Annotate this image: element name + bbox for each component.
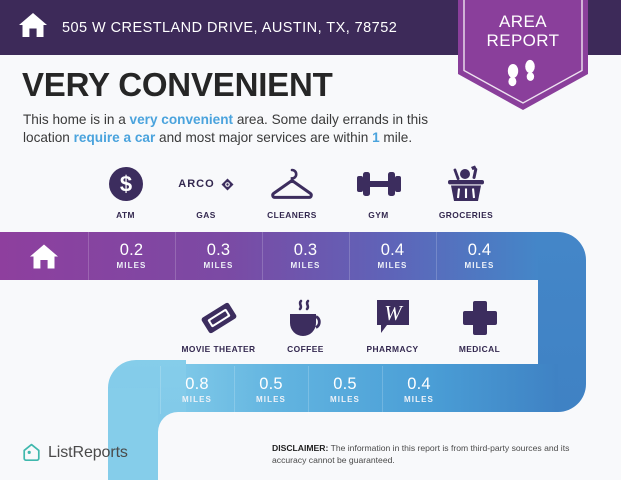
arco-brand-text: ARCO: [178, 178, 214, 190]
listreports-logo: ListReports: [22, 443, 128, 462]
area-report-infographic: 505 W CRESTLAND DRIVE, AUSTIN, TX, 78752…: [0, 0, 621, 480]
amenity-label: GAS: [196, 210, 216, 220]
dollar-circle-icon: $: [108, 163, 144, 205]
area-report-badge: AREA REPORT: [458, 0, 588, 110]
summary-highlight-convenience: very convenient: [130, 112, 234, 127]
amenity-atm: $ ATM: [88, 163, 163, 220]
home-icon: [18, 11, 48, 44]
amenity-label: GYM: [368, 210, 388, 220]
amenity-label: CLEANERS: [267, 210, 317, 220]
dumbbell-icon: [357, 163, 401, 205]
arco-logo-icon: ARCO: [178, 163, 233, 205]
shopping-basket-icon: [445, 163, 487, 205]
amenity-label: GROCERIES: [439, 210, 493, 220]
amenity-groceries: GROCERIES: [422, 163, 510, 220]
listreports-house-icon: [22, 443, 41, 462]
summary-part-4: mile.: [380, 130, 412, 145]
amenity-gas: ARCO GAS: [163, 163, 249, 220]
amenity-cleaners: CLEANERS: [249, 163, 335, 220]
property-address: 505 W CRESTLAND DRIVE, AUSTIN, TX, 78752: [62, 20, 397, 36]
listreports-logo-text: ListReports: [48, 444, 128, 462]
amenity-gym: GYM: [335, 163, 422, 220]
clothes-hanger-icon: [270, 163, 314, 205]
arco-diamond-icon: [221, 178, 234, 191]
page-title: VERY CONVENIENT: [22, 66, 333, 104]
amenity-label: ATM: [116, 210, 135, 220]
summary-paragraph: This home is in a very convenient area. …: [23, 111, 443, 146]
svg-text:$: $: [119, 172, 131, 197]
summary-highlight-transport: require a car: [74, 130, 156, 145]
amenity-icon-row-1: $ ATM ARCO GAS: [88, 163, 510, 220]
summary-part-1: This home is in a: [23, 112, 130, 127]
summary-highlight-distance: 1: [372, 130, 380, 145]
summary-part-3: and most major services are within: [155, 130, 372, 145]
